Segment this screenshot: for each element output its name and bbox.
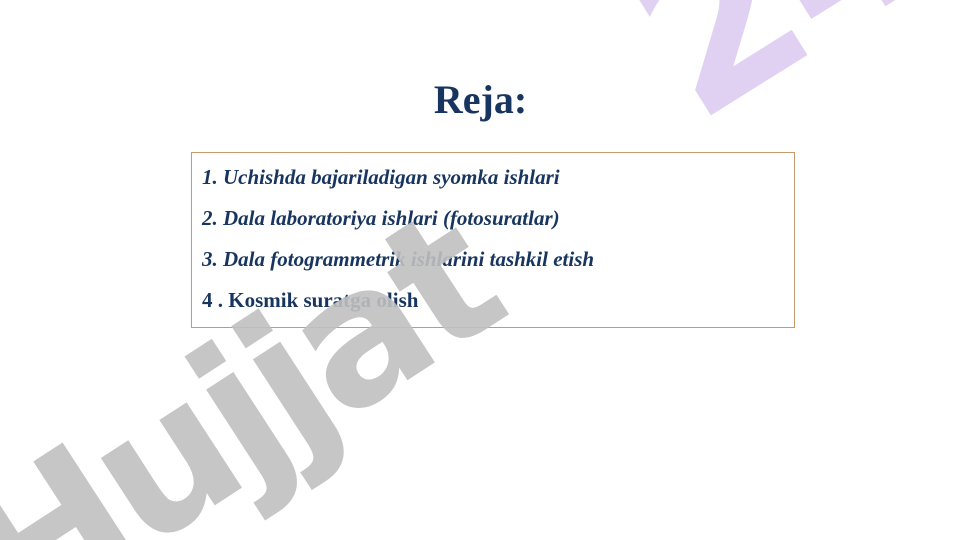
list-item: 1. Uchishda bajariladigan syomka ishlari [202,167,786,188]
list-item: 2. Dala laboratoriya ishlari (fotosuratl… [202,208,786,229]
list-item: 3. Dala fotogrammetrik ishlarini tashkil… [202,249,786,270]
page-title: Reja: [0,76,961,123]
slide-content: Reja: 1. Uchishda bajariladigan syomka i… [0,0,961,540]
agenda-box: 1. Uchishda bajariladigan syomka ishlari… [191,152,795,328]
presentation-slide: Reja: 1. Uchishda bajariladigan syomka i… [0,0,961,540]
list-item: 4 . Kosmik suratga olish [202,290,786,311]
